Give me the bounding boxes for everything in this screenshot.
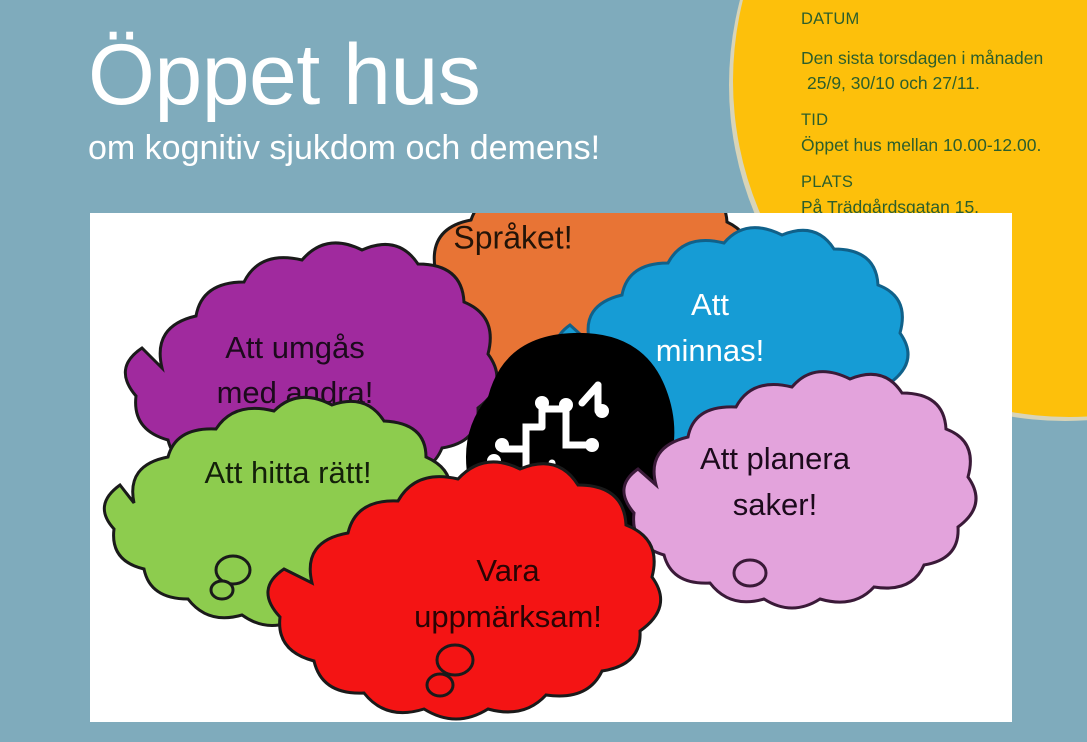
bubble-att-minnas-line-1: Att [691,287,729,322]
bubble-vara-uppmarksam-tail-2 [427,674,453,696]
page-title: Öppet hus [88,32,748,120]
info-label-plats: PLATS [801,171,1087,193]
bubble-att-planera-saker-line-2: saker! [733,487,817,522]
info-value-tid: Öppet hus mellan 10.00-12.00. [801,134,1087,157]
info-group-plats: PLATS På Trädgårdsgatan 15. [801,171,1087,219]
bubble-vara-uppmarksam-line-1: Vara [476,553,540,588]
thought-bubbles-illustration: Språket! Att umgås med andra! Att minnas… [90,213,1012,722]
bubble-att-planera-saker-line-1: Att planera [700,441,851,476]
bubble-att-hitta-ratt-line-1: Att hitta rätt! [204,455,371,490]
info-group-tid: TID Öppet hus mellan 10.00-12.00. [801,109,1087,157]
info-label-tid: TID [801,109,1087,131]
page-subtitle: om kognitiv sjukdom och demens! [88,130,748,167]
bubble-att-minnas-line-2: minnas! [656,333,765,368]
bubble-att-planera-saker-tail-1 [734,560,766,586]
bubble-att-hitta-ratt-tail-2 [211,581,233,599]
info-label-datum: DATUM [801,8,1087,30]
illustration-image: Språket! Att umgås med andra! Att minnas… [90,213,1012,722]
poster-canvas: Öppet hus om kognitiv sjukdom och demens… [0,0,1087,742]
info-value-datum-line1: Den sista torsdagen i månaden [801,47,1087,70]
info-value-datum-line2: 25/9, 30/10 och 27/11. [801,72,1087,95]
bubble-spraket-line-1: Språket! [453,219,572,255]
bubble-vara-uppmarksam-line-2: uppmärksam! [414,599,602,634]
title-block: Öppet hus om kognitiv sjukdom och demens… [88,32,748,167]
bubble-att-umgas-line-1: Att umgås [225,330,365,365]
bubble-vara-uppmarksam-tail-1 [437,645,473,675]
info-group-datum: DATUM Den sista torsdagen i månaden 25/9… [801,8,1087,95]
